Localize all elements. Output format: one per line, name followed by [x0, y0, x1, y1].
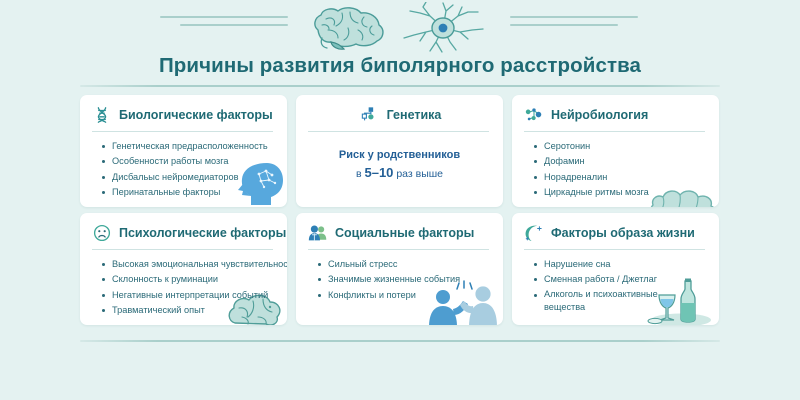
- brain-icon: [298, 4, 398, 52]
- card-title: Нейробиология: [551, 109, 648, 122]
- genetics-stat-line-1: Риск у родственников: [306, 147, 493, 164]
- list-item: Генетическая предрасположенность: [102, 139, 277, 154]
- infographic-root: Причины развития биполярного расстройств…: [0, 0, 800, 400]
- card-title: Факторы образа жизни: [551, 227, 695, 240]
- list-item: Норадреналин: [534, 170, 709, 185]
- card-genetics[interactable]: Генетика Риск у родственников в 5–10 раз…: [296, 95, 503, 207]
- divider-bottom: [80, 340, 720, 342]
- list-item: Особенности работы мозга: [102, 154, 277, 169]
- sad-face-icon: [92, 223, 112, 243]
- decorative-lines-right-icon: [510, 16, 640, 40]
- card-social[interactable]: Социальные факторы Сильный стресс Значим…: [296, 213, 503, 325]
- bullet-list: Генетическая предрасположенность Особенн…: [90, 139, 277, 201]
- bullet-list: Нарушение сна Сменная работа / Джетлаг А…: [522, 257, 709, 315]
- list-item: Серотонин: [534, 139, 709, 154]
- list-item: Значимые жизненные события: [318, 272, 493, 287]
- list-item: Сменная работа / Джетлаг: [534, 272, 709, 287]
- list-item: Перинатальные факторы: [102, 185, 277, 200]
- list-item: Склонность к руминации: [102, 272, 277, 287]
- card-lifestyle[interactable]: Факторы образа жизни Нарушение сна Сменн…: [512, 213, 719, 325]
- list-item: Дофамин: [534, 154, 709, 169]
- people-icon: [308, 223, 328, 243]
- card-title: Социальные факторы: [335, 227, 474, 240]
- card-underline: [308, 249, 489, 250]
- genetics-stat-value: 5–10: [364, 165, 393, 180]
- cards-grid: Биологические факторы Генетическая предр…: [80, 95, 720, 330]
- page-title: Причины развития биполярного расстройств…: [0, 54, 800, 78]
- genetics-stat-suffix: раз выше: [393, 168, 443, 180]
- list-item: Дисбальыс нейромедиаторов: [102, 170, 277, 185]
- header-artwork: [0, 2, 800, 52]
- network-nodes-icon: [360, 105, 380, 125]
- list-item: Высокая эмоциональная чувствительность: [102, 257, 277, 272]
- divider-top: [80, 85, 720, 87]
- genetics-stat: Риск у родственников в 5–10 раз выше: [306, 147, 493, 183]
- card-title: Биологические факторы: [119, 109, 273, 122]
- dna-icon: [92, 105, 112, 125]
- genetics-stat-line-2: в 5–10 раз выше: [306, 164, 493, 183]
- list-item: Негативные интерпретации событий: [102, 288, 277, 303]
- list-item: Травматический опыт: [102, 303, 277, 318]
- decorative-lines-left-icon: [160, 16, 290, 40]
- card-underline: [524, 131, 705, 132]
- card-underline: [92, 131, 273, 132]
- neuron-icon: [396, 2, 490, 54]
- card-header: Факторы образа жизни: [522, 222, 709, 244]
- list-item: Циркадные ритмы мозга: [534, 185, 709, 200]
- list-item: Сильный стресс: [318, 257, 493, 272]
- card-underline: [308, 131, 489, 132]
- card-header: Социальные факторы: [306, 222, 493, 244]
- card-header: Генетика: [306, 104, 493, 126]
- bullet-list: Серотонин Дофамин Норадреналин Циркадные…: [522, 139, 709, 201]
- card-psychological[interactable]: Психологические факторы Высокая эмоциона…: [80, 213, 287, 325]
- card-header: Нейробиология: [522, 104, 709, 126]
- bullet-list: Высокая эмоциональная чувствительность С…: [90, 257, 277, 319]
- card-header: Психологические факторы: [90, 222, 277, 244]
- card-biological[interactable]: Биологические факторы Генетическая предр…: [80, 95, 287, 207]
- card-neurobiology[interactable]: Нейробиология Серотонин Дофамин Норадрен…: [512, 95, 719, 207]
- list-item: Конфликты и потери: [318, 288, 493, 303]
- header: Причины развития биполярного расстройств…: [0, 0, 800, 88]
- card-underline: [92, 249, 273, 250]
- bullet-list: Сильный стресс Значимые жизненные событи…: [306, 257, 493, 303]
- moon-icon: [524, 223, 544, 243]
- molecule-icon: [524, 105, 544, 125]
- card-underline: [524, 249, 705, 250]
- card-title: Генетика: [387, 109, 442, 122]
- list-item: Нарушение сна: [534, 257, 709, 272]
- list-item: Алкоголь и психоактивные вещества: [534, 288, 672, 315]
- card-header: Биологические факторы: [90, 104, 277, 126]
- card-title: Психологические факторы: [119, 227, 286, 240]
